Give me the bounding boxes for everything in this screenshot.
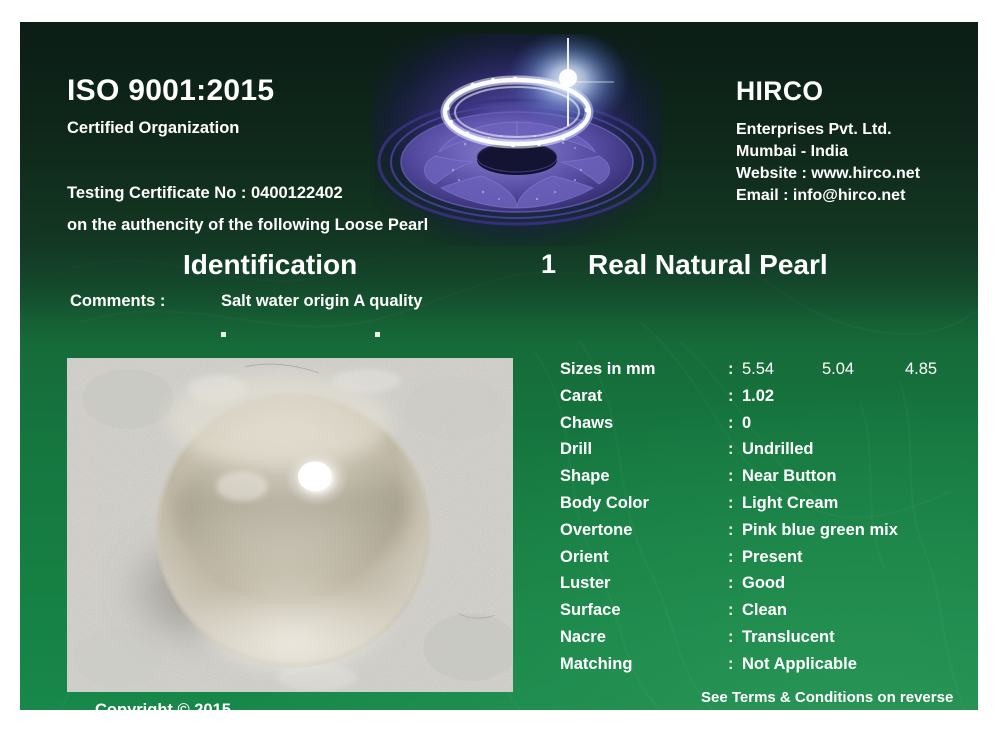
copyright-notice: Copyright © 2015. [95, 701, 236, 710]
spec-value: Present [742, 548, 803, 567]
company-location: Mumbai - India [736, 143, 848, 161]
spec-row-sizes: Sizes in mm : 5.54 5.04 4.85 [560, 360, 978, 387]
certified-organization-label: Certified Organization [67, 119, 239, 138]
spec-value: 1.02 [742, 387, 774, 406]
identification-heading: Identification [183, 249, 357, 281]
authenticity-statement: on the authencity of the following Loose… [67, 216, 428, 235]
spec-separator: : [728, 521, 734, 540]
testing-certificate-number: Testing Certificate No : 0400122402 [67, 184, 343, 203]
spec-row-surface: Surface : Clean [560, 601, 978, 628]
spec-value: Near Button [742, 467, 836, 486]
comments-value: Salt water origin A quality [221, 292, 422, 311]
spec-row-orient: Orient : Present [560, 548, 978, 575]
certificate-page: ISO 9001:2015 Certified Organization Tes… [0, 0, 996, 740]
spec-label: Nacre [560, 628, 606, 647]
spec-separator: : [728, 548, 734, 567]
item-name: Real Natural Pearl [588, 249, 828, 281]
company-legal-suffix: Enterprises Pvt. Ltd. [736, 121, 892, 139]
specifications-list: Sizes in mm : 5.54 5.04 4.85 Carat : 1.0… [560, 360, 978, 682]
company-website[interactable]: Website : www.hirco.net [736, 165, 920, 183]
spec-separator: : [728, 440, 734, 459]
spec-row-luster: Luster : Good [560, 574, 978, 601]
company-email[interactable]: Email : info@hirco.net [736, 187, 905, 205]
spec-separator: : [728, 467, 734, 486]
spec-value: Clean [742, 601, 787, 620]
spec-separator: : [728, 360, 734, 379]
size-value-width: 5.04 [822, 360, 854, 379]
size-value-length: 5.54 [742, 360, 774, 379]
spec-label: Body Color [560, 494, 649, 513]
spec-label: Sizes in mm [560, 360, 655, 379]
certificate-card: ISO 9001:2015 Certified Organization Tes… [20, 22, 978, 710]
spec-value: 0 [742, 414, 751, 433]
spec-label: Matching [560, 655, 632, 674]
spec-label: Shape [560, 467, 610, 486]
spec-label: Surface [560, 601, 621, 620]
spec-separator: : [728, 628, 734, 647]
spec-label: Overtone [560, 521, 632, 540]
spec-row-carat: Carat : 1.02 [560, 387, 978, 414]
iso-title: ISO 9001:2015 [67, 74, 274, 108]
marker-dot-left [221, 332, 226, 337]
spec-row-drill: Drill : Undrilled [560, 440, 978, 467]
spec-separator: : [728, 494, 734, 513]
spec-row-shape: Shape : Near Button [560, 467, 978, 494]
spec-row-body-color: Body Color : Light Cream [560, 494, 978, 521]
spec-label: Carat [560, 387, 602, 406]
spec-separator: : [728, 655, 734, 674]
spec-row-nacre: Nacre : Translucent [560, 628, 978, 655]
comments-label: Comments : [70, 292, 165, 311]
marker-dot-right [375, 332, 380, 337]
spec-value: Pink blue green mix [742, 521, 898, 540]
size-value-height: 4.85 [905, 360, 937, 379]
spec-value: Translucent [742, 628, 835, 647]
spec-row-overtone: Overtone : Pink blue green mix [560, 521, 978, 548]
terms-and-conditions-note: See Terms & Conditions on reverse [701, 689, 953, 706]
spec-value: Light Cream [742, 494, 838, 513]
pearl-hologram-emblem [372, 34, 662, 246]
spec-label: Drill [560, 440, 592, 459]
spec-separator: : [728, 414, 734, 433]
spec-row-chaws: Chaws : 0 [560, 414, 978, 441]
pearl-specimen-photo [67, 358, 513, 692]
item-quantity: 1 [541, 249, 556, 280]
spec-label: Chaws [560, 414, 613, 433]
spec-separator: : [728, 387, 734, 406]
spec-value: Good [742, 574, 785, 593]
spec-separator: : [728, 574, 734, 593]
company-name: HIRCO [736, 76, 823, 107]
spec-value: Undrilled [742, 440, 814, 459]
spec-label: Orient [560, 548, 609, 567]
spec-label: Luster [560, 574, 610, 593]
spec-value: Not Applicable [742, 655, 857, 674]
spec-row-matching: Matching : Not Applicable [560, 655, 978, 682]
spec-separator: : [728, 601, 734, 620]
